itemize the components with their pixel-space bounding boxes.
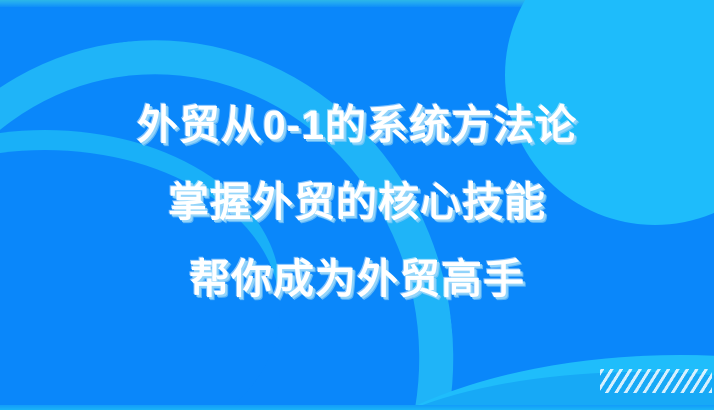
promo-banner: 外贸从0-1的系统方法论 掌握外贸的核心技能 帮你成为外贸高手: [0, 0, 714, 410]
headline-line-2: 掌握外贸的核心技能: [168, 182, 546, 223]
headline-group: 外贸从0-1的系统方法论 掌握外贸的核心技能 帮你成为外贸高手: [0, 0, 714, 410]
headline-line-1: 外贸从0-1的系统方法论: [137, 105, 577, 146]
headline-line-3: 帮你成为外贸高手: [189, 259, 525, 300]
